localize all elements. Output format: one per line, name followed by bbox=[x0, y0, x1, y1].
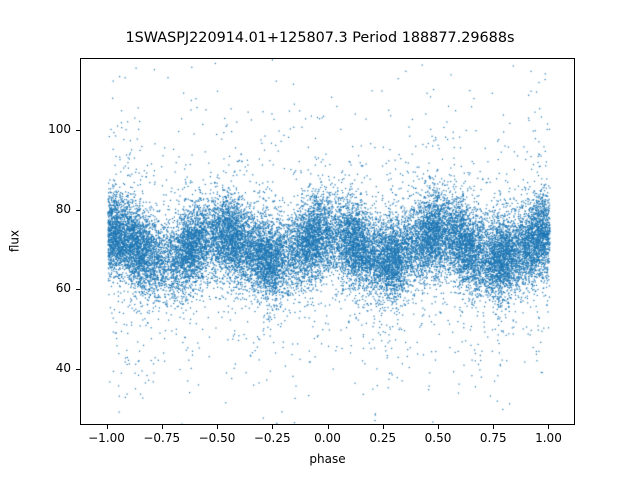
x-tick-mark bbox=[438, 425, 439, 429]
x-tick-mark bbox=[548, 425, 549, 429]
x-axis-label: phase bbox=[80, 452, 575, 466]
y-tick-mark bbox=[76, 130, 80, 131]
x-tick-mark bbox=[107, 425, 108, 429]
x-tick-mark bbox=[162, 425, 163, 429]
y-axis-label-holder: flux bbox=[0, 58, 28, 425]
y-axis-label: flux bbox=[8, 58, 22, 425]
x-tick-mark bbox=[328, 425, 329, 429]
x-tick-mark bbox=[272, 425, 273, 429]
plot-axes bbox=[80, 58, 575, 425]
y-tick-mark bbox=[76, 289, 80, 290]
x-tick-label: 1.00 bbox=[508, 431, 588, 445]
x-tick-mark bbox=[217, 425, 218, 429]
y-tick-mark bbox=[76, 369, 80, 370]
x-tick-mark bbox=[383, 425, 384, 429]
figure-canvas: 1SWASPJ220914.01+125807.3 Period 188877.… bbox=[0, 0, 640, 480]
x-tick-mark bbox=[493, 425, 494, 429]
page-title: 1SWASPJ220914.01+125807.3 Period 188877.… bbox=[0, 30, 640, 46]
scatter-plot-points bbox=[81, 59, 574, 424]
y-tick-mark bbox=[76, 210, 80, 211]
